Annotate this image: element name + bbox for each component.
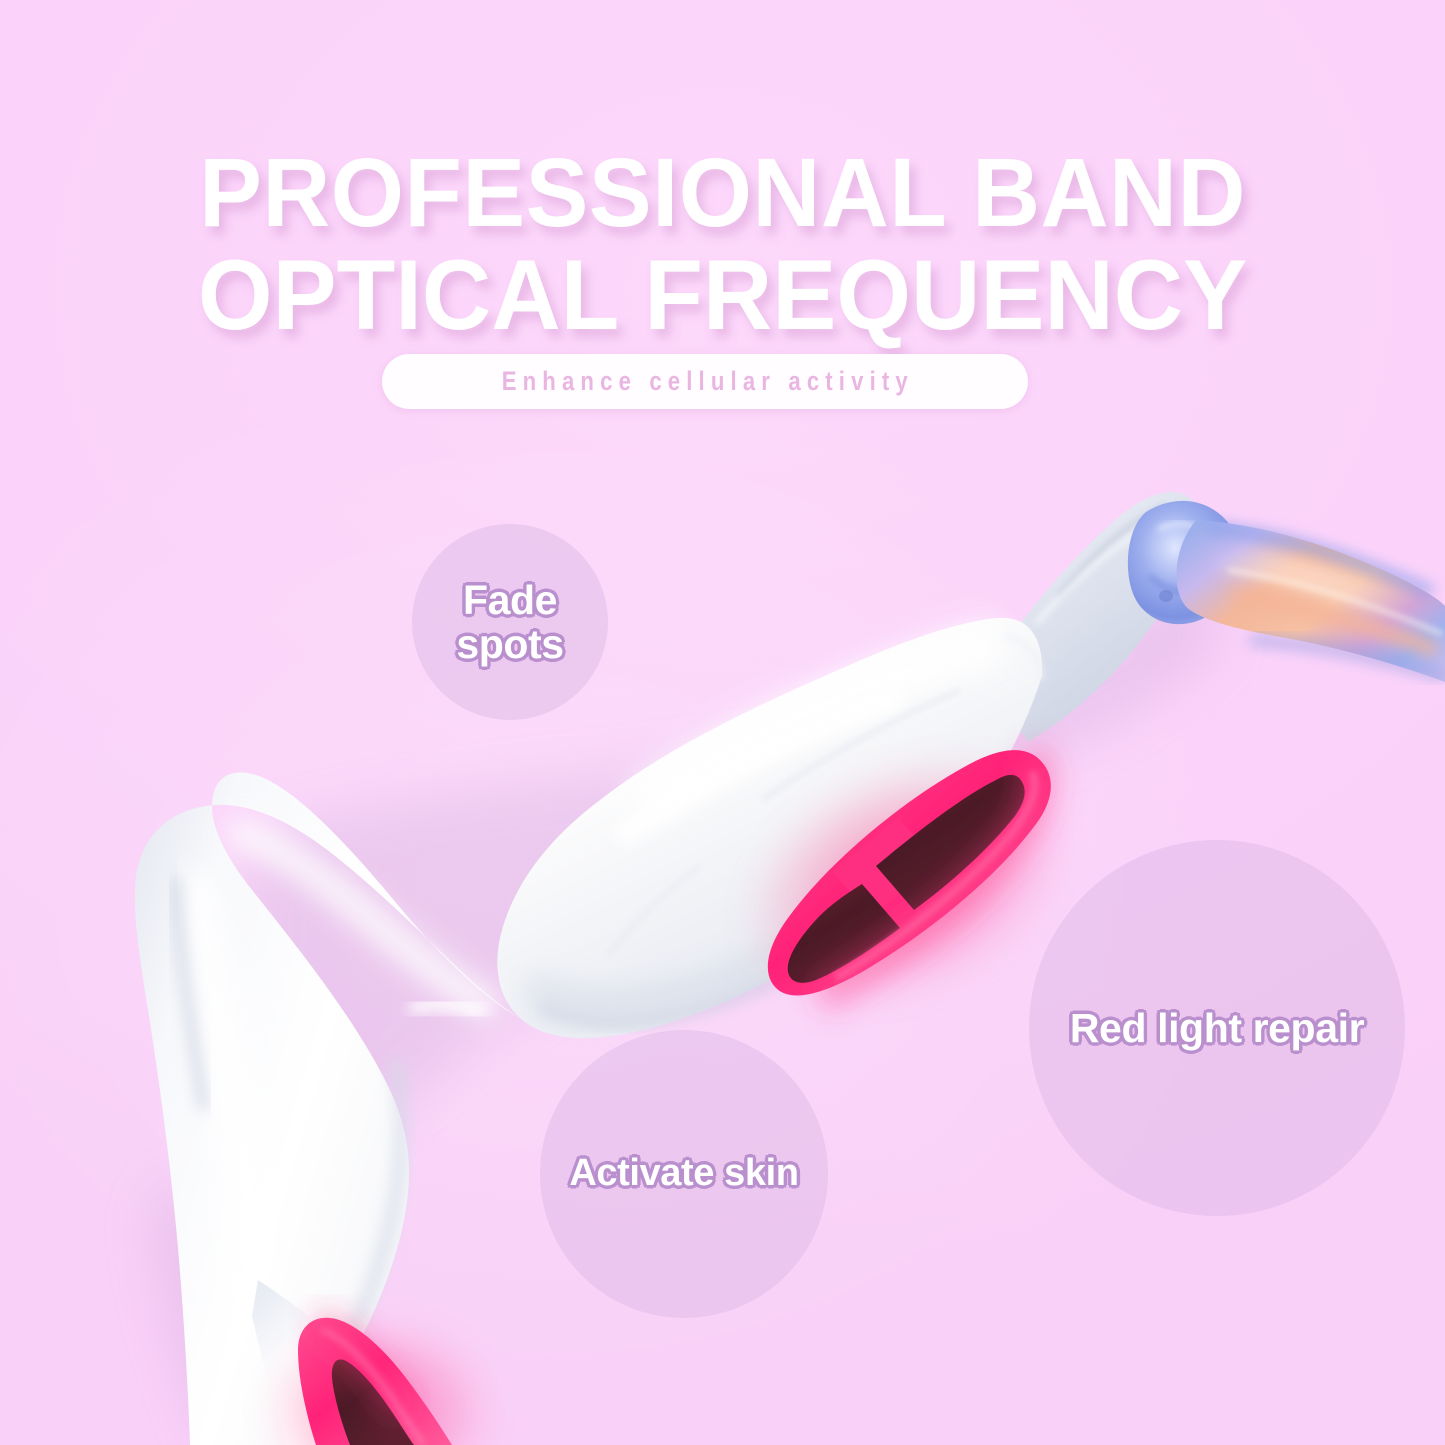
- headline-line-2: OPTICAL FREQUENCY: [22, 244, 1424, 347]
- feature-bubble-red-light-repair: Red light repair: [1029, 840, 1405, 1216]
- headline-line-1: PROFESSIONAL BAND: [22, 143, 1424, 244]
- feature-bubble-activate-skin: Activate skin: [540, 1030, 828, 1318]
- product-poster: PROFESSIONAL BAND OPTICAL FREQUENCY Enha…: [0, 0, 1445, 1445]
- feature-bubble-fade-spots: Fade spots: [412, 524, 608, 720]
- subtitle-pill: Enhance cellular activity: [382, 354, 1028, 409]
- device-iridescent-arm: [1176, 520, 1445, 682]
- subtitle-text: Enhance cellular activity: [501, 366, 913, 397]
- feature-label-red-light-repair: Red light repair: [1070, 1006, 1364, 1050]
- feature-label-fade-spots: Fade spots: [456, 578, 563, 667]
- feature-label-activate-skin: Activate skin: [569, 1153, 798, 1194]
- page-title: PROFESSIONAL BAND OPTICAL FREQUENCY: [22, 143, 1424, 347]
